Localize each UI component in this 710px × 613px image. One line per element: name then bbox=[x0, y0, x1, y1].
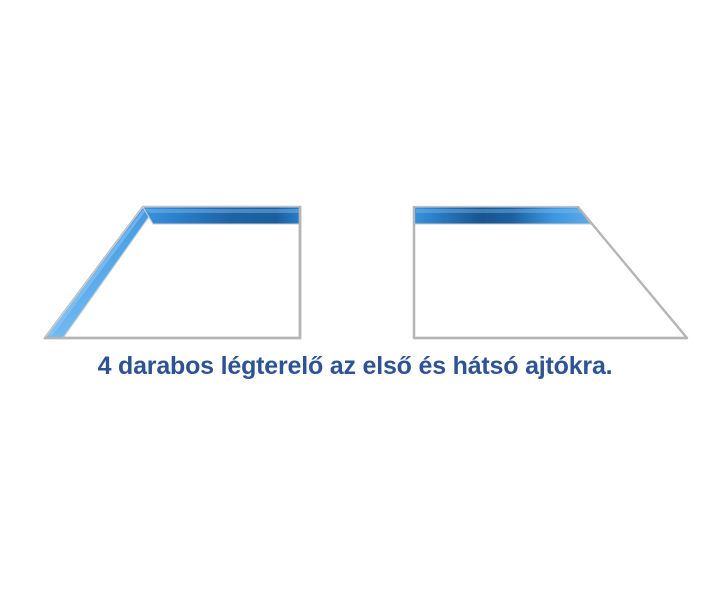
caption-text: 4 darabos légterelő az első és hátsó ajt… bbox=[0, 352, 710, 381]
image-canvas: 4 darabos légterelő az első és hátsó ajt… bbox=[0, 0, 710, 613]
front-top-strip-highlight bbox=[145, 209, 299, 213]
front-panel-outline bbox=[45, 207, 300, 338]
front-door-deflector bbox=[45, 207, 300, 338]
rear-door-deflector bbox=[414, 207, 687, 338]
deflector-illustration bbox=[0, 0, 710, 355]
rear-top-strip-highlight bbox=[416, 209, 582, 213]
rear-panel-outline bbox=[414, 207, 687, 338]
